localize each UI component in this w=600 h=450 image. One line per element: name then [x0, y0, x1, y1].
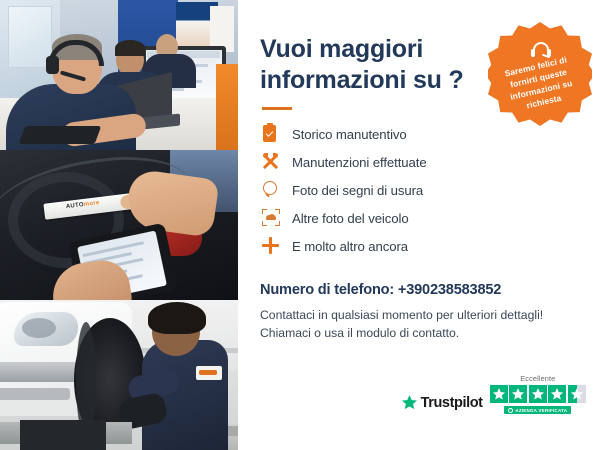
call-center-operators-photo: [0, 0, 238, 150]
trustpilot-wordmark: Trustpilot: [421, 395, 483, 411]
feature-label: Altre foto del veicolo: [292, 211, 409, 226]
feature-item-foto-segni-usura[interactable]: Foto dei segni di usura: [260, 176, 578, 204]
contact-subline-2: Chiamaci o usa il modulo di contatto.: [260, 325, 578, 343]
title-divider: [262, 107, 292, 110]
star-5: [568, 385, 586, 403]
feature-label: Manutenzioni effettuate: [292, 155, 427, 170]
magnifier-icon: [260, 180, 282, 200]
verified-check-icon: [508, 408, 513, 413]
contact-subline-1: Contattaci in qualsiasi momento per ulte…: [260, 307, 578, 325]
clipboard-check-icon: [260, 124, 282, 144]
promo-card: AUTOmore: [0, 0, 600, 450]
trustpilot-stars: [490, 385, 586, 403]
mechanic-wheel-inspection-photo: [0, 300, 238, 450]
star-2: [509, 385, 527, 403]
sticker-on-car-photo: AUTOmore: [0, 150, 238, 300]
trustpilot-rating-label: Eccellente: [520, 374, 555, 383]
feature-label: Foto dei segni di usura: [292, 183, 423, 198]
contact-block: Numero di telefono: +390238583852 Contat…: [260, 282, 578, 342]
content-panel: Vuoi maggiori informazioni su ? Saremo f…: [238, 0, 600, 450]
feature-item-manutenzioni-effettuate[interactable]: Manutenzioni effettuate: [260, 148, 578, 176]
star-1: [490, 385, 508, 403]
photo-column: AUTOmore: [0, 0, 238, 450]
trustpilot-logo: Trustpilot: [401, 394, 483, 414]
tools-cross-icon: [260, 152, 282, 172]
phone-number-line[interactable]: Numero di telefono: +390238583852: [260, 282, 578, 298]
verified-label: AZIENDA VERIFICATA: [515, 408, 567, 413]
callout-badge: Saremo felici di fornirti queste informa…: [488, 22, 592, 126]
page-title: Vuoi maggiori informazioni su ?: [260, 34, 470, 95]
trustpilot-widget[interactable]: Trustpilot Eccellente: [401, 374, 586, 414]
star-3: [529, 385, 547, 403]
feature-item-altre-foto-veicolo[interactable]: Altre foto del veicolo: [260, 204, 578, 232]
feature-list: Storico manutentivo Manutenzioni effettu…: [260, 120, 578, 260]
feature-item-molto-altro[interactable]: E molto altro ancora: [260, 232, 578, 260]
car-focus-frame-icon: [260, 208, 282, 228]
verified-business-badge: AZIENDA VERIFICATA: [504, 406, 571, 414]
plus-icon: [260, 236, 282, 256]
feature-label: Storico manutentivo: [292, 127, 407, 142]
feature-label: E molto altro ancora: [292, 239, 408, 254]
trustpilot-rating: Eccellente: [490, 374, 586, 414]
trustpilot-star-icon: [401, 394, 418, 411]
star-4: [548, 385, 566, 403]
